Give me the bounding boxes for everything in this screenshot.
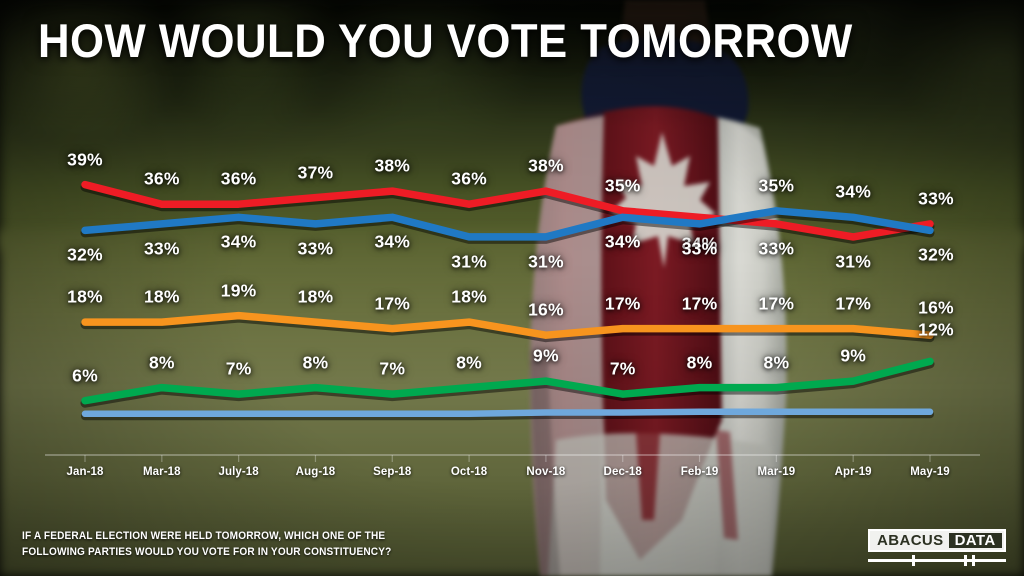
- data-label: 7%: [379, 359, 405, 380]
- data-label: 7%: [610, 359, 636, 380]
- data-label: 37%: [298, 162, 334, 183]
- data-label: 35%: [605, 175, 641, 196]
- data-label: 34%: [835, 182, 871, 203]
- data-label: 34%: [221, 232, 257, 253]
- x-axis-tick-label: July-18: [218, 466, 258, 478]
- data-label: 38%: [528, 156, 564, 177]
- data-label: 33%: [144, 238, 180, 259]
- series-line-ndp: [85, 316, 930, 336]
- data-label: 31%: [528, 251, 564, 272]
- poll-trend-chart: 39%36%36%37%38%36%38%35%34%33%31%33%32%3…: [0, 0, 1024, 576]
- data-label: 8%: [764, 352, 790, 373]
- data-label: 7%: [226, 359, 252, 380]
- data-label: 34%: [374, 232, 410, 253]
- abacus-data-logo: ABACUS DATA: [868, 529, 1006, 567]
- data-label: 17%: [835, 293, 871, 314]
- data-label: 18%: [67, 287, 103, 308]
- logo-bead: [972, 555, 975, 566]
- data-label: 33%: [759, 238, 795, 259]
- data-label: 31%: [835, 251, 871, 272]
- x-axis-tick-label: Aug-18: [296, 466, 336, 478]
- data-label: 17%: [682, 293, 718, 314]
- data-label: 16%: [528, 300, 564, 321]
- data-label: 18%: [298, 287, 334, 308]
- data-label: 33%: [298, 238, 334, 259]
- footnote-line-1: IF A FEDERAL ELECTION WERE HELD TOMORROW…: [22, 528, 391, 544]
- data-label: 9%: [533, 346, 559, 367]
- logo-abacus-text: ABACUS: [870, 531, 949, 550]
- x-axis-tick-label: Mar-19: [758, 466, 796, 478]
- data-label: 17%: [374, 293, 410, 314]
- data-label: 32%: [67, 245, 103, 266]
- data-label: 8%: [149, 352, 175, 373]
- data-label: 39%: [67, 149, 103, 170]
- x-axis-tick-label: Apr-19: [835, 466, 872, 478]
- data-label: 33%: [918, 188, 954, 209]
- logo-rod: [868, 559, 1006, 562]
- data-label: 19%: [221, 280, 257, 301]
- footnote-line-2: FOLLOWING PARTIES WOULD YOU VOTE FOR IN …: [22, 544, 391, 560]
- data-label: 8%: [687, 352, 713, 373]
- data-label: 33%: [682, 238, 718, 259]
- data-label: 6%: [72, 365, 98, 386]
- logo-bead: [964, 555, 967, 566]
- logo-bead: [912, 555, 915, 566]
- data-label: 32%: [918, 245, 954, 266]
- x-axis-tick-label: Dec-18: [604, 466, 642, 478]
- data-label: 9%: [840, 346, 866, 367]
- data-label: 17%: [759, 293, 795, 314]
- logo-data-text: DATA: [949, 533, 1002, 548]
- data-label: 35%: [759, 175, 795, 196]
- data-label: 38%: [374, 156, 410, 177]
- data-label: 8%: [456, 352, 482, 373]
- x-axis-tick-label: May-19: [910, 466, 950, 478]
- data-label: 17%: [605, 293, 641, 314]
- series-line-other: [85, 412, 930, 414]
- x-axis-tick-label: Jan-18: [66, 466, 103, 478]
- survey-question-footnote: IF A FEDERAL ELECTION WERE HELD TOMORROW…: [22, 528, 391, 561]
- logo-wordmark: ABACUS DATA: [868, 529, 1006, 552]
- data-label: 36%: [451, 169, 487, 190]
- x-axis-tick-label: Feb-19: [681, 466, 719, 478]
- x-axis-tick-label: Mar-18: [143, 466, 181, 478]
- x-axis-tick-label: Oct-18: [451, 466, 487, 478]
- chart-axis: [45, 455, 980, 462]
- series-line-green: [85, 361, 930, 400]
- data-label: 36%: [221, 169, 257, 190]
- data-label: 18%: [144, 287, 180, 308]
- data-label: 16%: [918, 298, 954, 319]
- logo-abacus-rods: [868, 555, 1006, 565]
- x-axis-tick-label: Nov-18: [526, 466, 565, 478]
- data-label: 31%: [451, 251, 487, 272]
- data-label: 12%: [918, 320, 954, 341]
- x-axis-tick-label: Sep-18: [373, 466, 411, 478]
- data-label: 34%: [605, 232, 641, 253]
- data-label: 18%: [451, 287, 487, 308]
- data-label: 36%: [144, 169, 180, 190]
- data-label: 8%: [303, 352, 329, 373]
- poll-infographic: HOW WOULD YOU VOTE TOMORROW 39%36%36%37%…: [0, 0, 1024, 576]
